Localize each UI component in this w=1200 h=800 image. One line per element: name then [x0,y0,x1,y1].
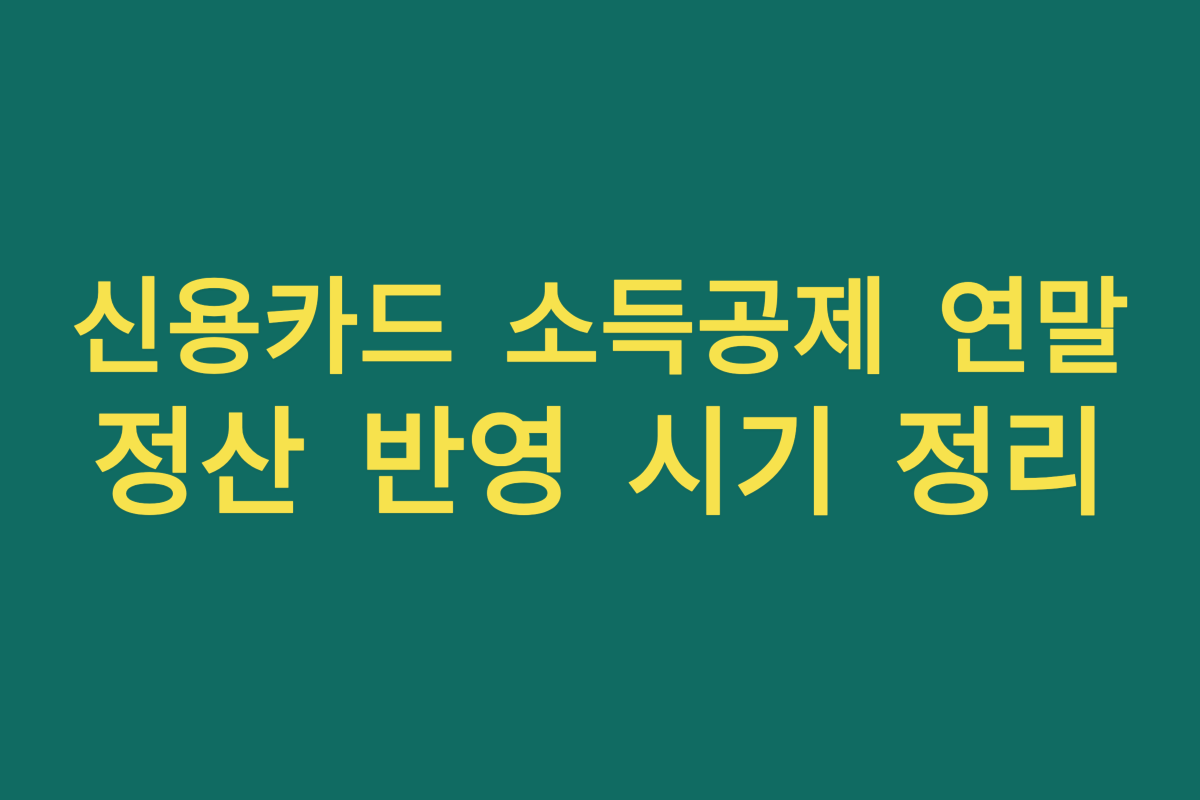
headline-line-1: 신용카드 소득공제 연말 [70,264,1130,393]
page-title: 신용카드 소득공제 연말 정산 반영 시기 정리 [70,264,1130,537]
banner-canvas: 신용카드 소득공제 연말 정산 반영 시기 정리 [0,0,1200,800]
headline-line-2: 정산 반영 시기 정리 [70,393,1130,537]
